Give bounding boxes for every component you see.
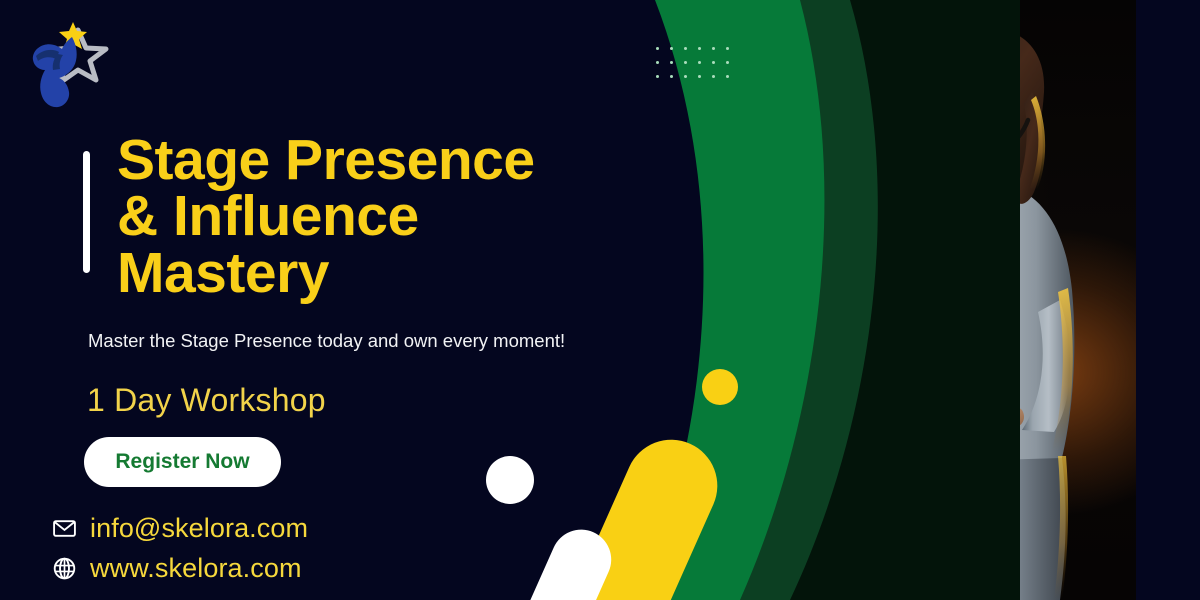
- yellow-circle-decoration: [702, 369, 738, 405]
- headline-group: Stage Presence & Influence Mastery: [83, 132, 535, 301]
- workshop-label: 1 Day Workshop: [87, 382, 326, 419]
- event-banner: Stage Presence & Influence Mastery Maste…: [0, 0, 1200, 600]
- content-column: Stage Presence & Influence Mastery Maste…: [0, 0, 660, 600]
- subtitle-text: Master the Stage Presence today and own …: [88, 328, 588, 354]
- envelope-icon: [52, 516, 77, 541]
- skelora-logo-icon[interactable]: [16, 14, 120, 118]
- contact-info: info@skelora.com www.skelora.com: [52, 508, 308, 588]
- globe-icon: [52, 556, 77, 581]
- headline-accent-bar: [83, 151, 90, 273]
- contact-email-text: info@skelora.com: [90, 513, 308, 544]
- photo-right-edge: [1136, 0, 1168, 600]
- dot-grid-pattern: [656, 47, 740, 89]
- contact-website-text: www.skelora.com: [90, 553, 302, 584]
- page-title: Stage Presence & Influence Mastery: [117, 132, 535, 301]
- contact-website-row[interactable]: www.skelora.com: [52, 548, 308, 588]
- register-now-button[interactable]: Register Now: [84, 437, 281, 487]
- contact-email-row[interactable]: info@skelora.com: [52, 508, 308, 548]
